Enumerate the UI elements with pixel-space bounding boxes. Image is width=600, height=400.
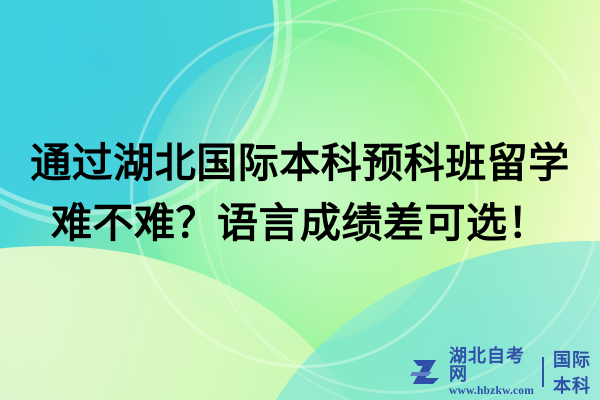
headline-line-1: 通过湖北国际本科预科班留学 xyxy=(0,133,600,193)
headline-line-2: 难不难？语言成绩差可选！ xyxy=(0,193,600,253)
banner-headline: 通过湖北国际本科预科班留学 难不难？语言成绩差可选！ xyxy=(0,133,600,253)
watermark-url: www.hbzkw.com xyxy=(449,386,534,398)
watermark-text-block: 湖北自考网 www.hbzkw.com xyxy=(449,347,534,398)
watermark-divider xyxy=(542,357,544,387)
watermark-tag: 国际本科 xyxy=(553,346,600,398)
watermark-brand: 湖北自考网 xyxy=(449,347,534,383)
watermark-logo: 湖北自考网 www.hbzkw.com 国际本科 xyxy=(410,352,600,392)
logo-mark-icon xyxy=(410,356,444,388)
promo-banner: 0%" stop-color="#bdf0fa"/> 55%" stop-col… xyxy=(0,0,600,400)
sparkle-icon: 0%" stop-color="#bdf0fa"/> 55%" stop-col… xyxy=(546,16,586,64)
